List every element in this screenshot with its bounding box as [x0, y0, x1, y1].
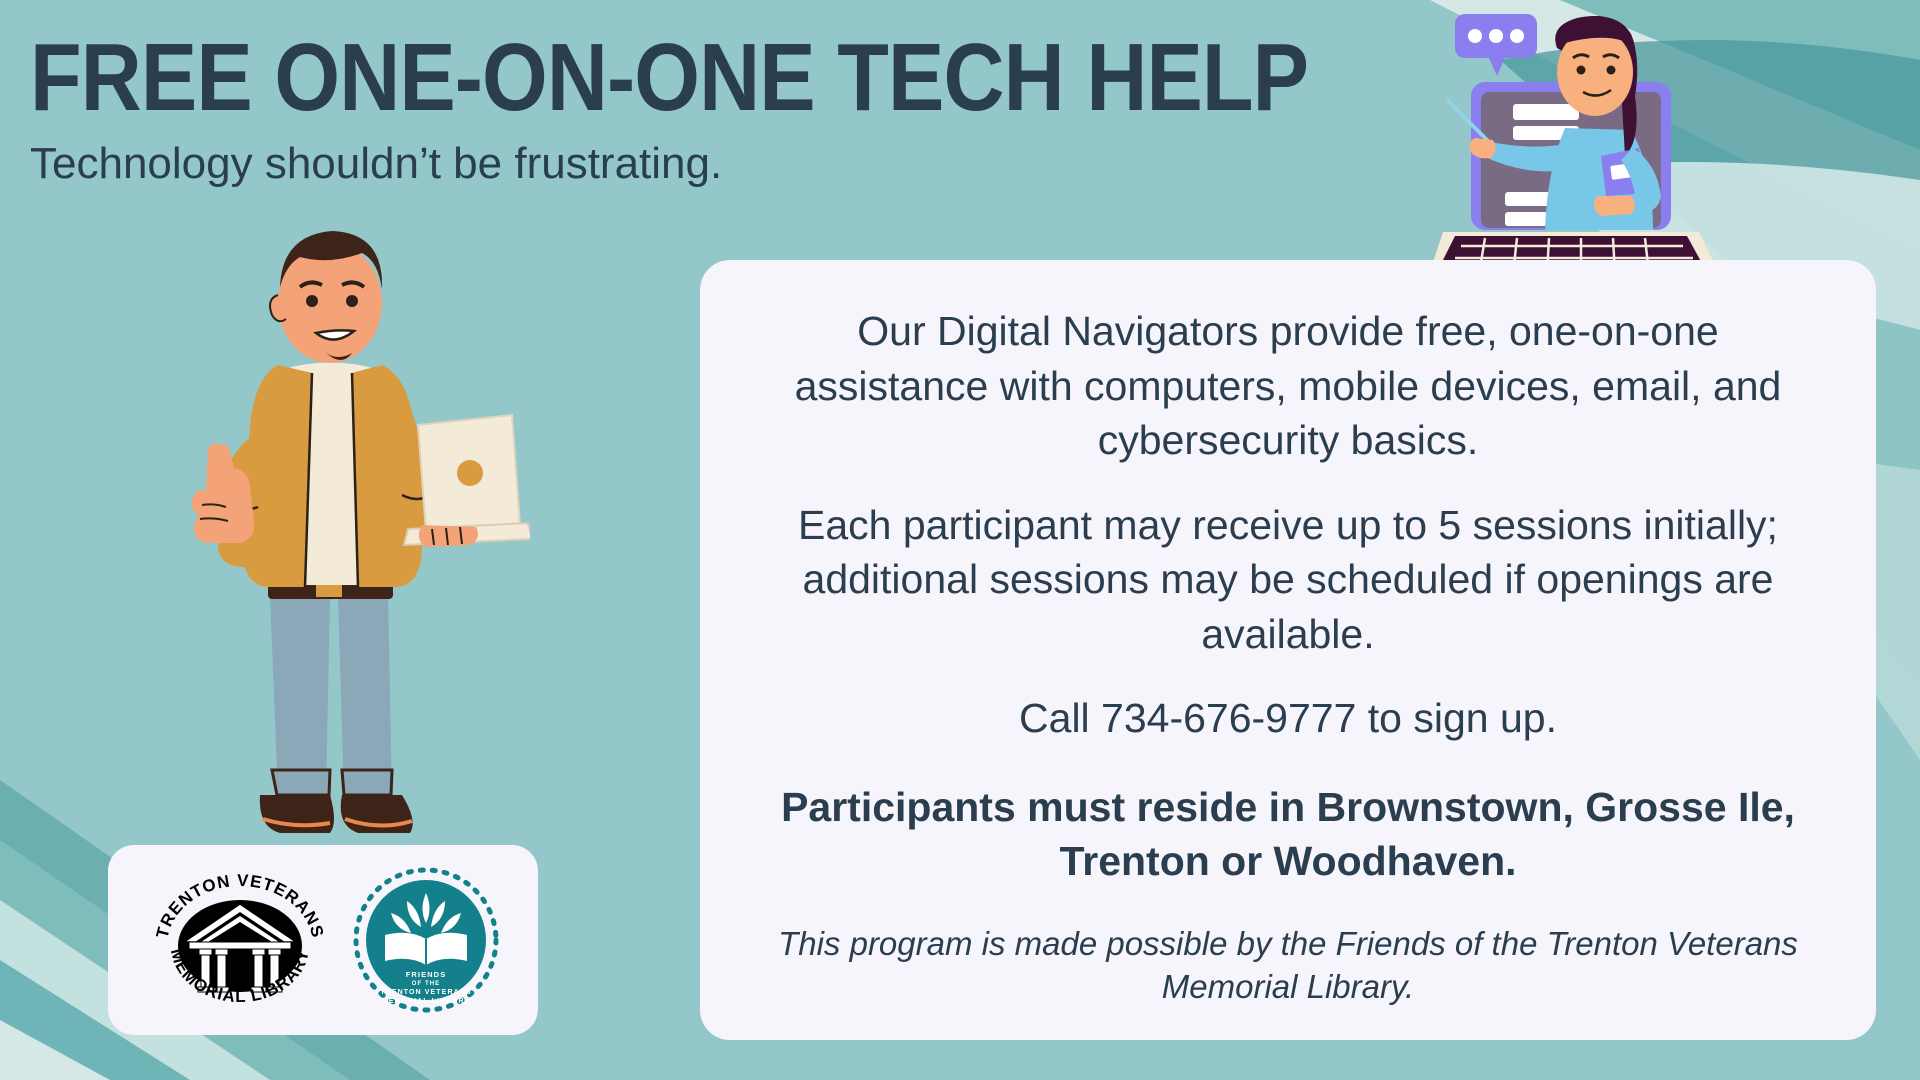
phone-signup-line: Call 734-676-9777 to sign up. [756, 691, 1820, 746]
flyer-canvas: FREE ONE-ON-ONE TECH HELP Technology sho… [0, 0, 1920, 1080]
man-with-laptop-illustration [130, 195, 530, 875]
woman-in-laptop-illustration [1425, 0, 1745, 300]
paragraph-services: Our Digital Navigators provide free, one… [756, 304, 1820, 468]
sponsor-credit: This program is made possible by the Fri… [756, 923, 1820, 1009]
friends-line-4: MEMORIAL LIBRARY [382, 998, 470, 1005]
friends-line-3: TRENTON VETERANS [380, 989, 471, 996]
residency-requirement: Participants must reside in Brownstown, … [756, 780, 1820, 889]
info-card: Our Digital Navigators provide free, one… [700, 260, 1876, 1040]
friends-line-2: OF THE [412, 981, 441, 987]
logo-panel: TRENTON VETERANS MEMORIAL LIBRARY FRIEND… [108, 845, 538, 1035]
friends-line-1: FRIENDS [406, 970, 447, 979]
paragraph-sessions: Each participant may receive up to 5 ses… [756, 498, 1820, 662]
friends-of-the-library-seal: FRIENDS OF THE TRENTON VETERANS MEMORIAL… [351, 865, 501, 1015]
chat-bubble-three-dots-icon [1455, 14, 1537, 76]
trenton-veterans-memorial-library-seal: TRENTON VETERANS MEMORIAL LIBRARY [145, 860, 335, 1020]
page-subtitle: Technology shouldn’t be frustrating. [30, 140, 722, 188]
page-title: FREE ONE-ON-ONE TECH HELP [30, 30, 1308, 126]
